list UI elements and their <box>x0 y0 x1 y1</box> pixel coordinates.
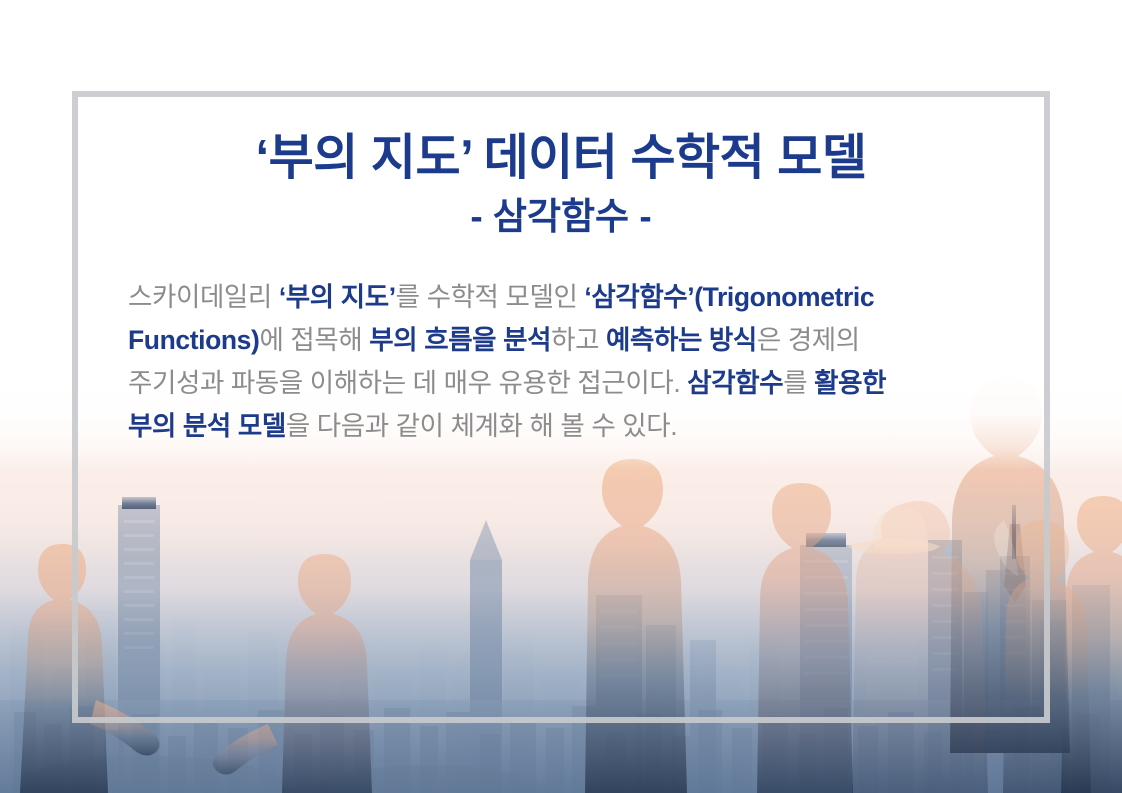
title-block: ‘부의 지도’ 데이터 수학적 모델 - 삼각함수 - <box>0 131 1122 239</box>
page-title: ‘부의 지도’ 데이터 수학적 모델 <box>0 131 1122 187</box>
body-paragraph: 스카이데일리 ‘부의 지도’를 수학적 모델인 ‘삼각함수’(Trigonome… <box>128 276 1002 448</box>
body-l2-s3: 부의 흐름을 분석 <box>369 325 551 355</box>
body-l2-s4: 하고 <box>551 325 606 355</box>
body-l2-s2: 에 접목해 <box>259 325 369 355</box>
body-l1-s3: 를 수학적 모델인 <box>396 282 585 312</box>
body-l1-s4: ‘삼각함수’(Trigonometric <box>584 282 874 312</box>
body-l4-s1: 부의 분석 모델 <box>128 411 286 441</box>
body-l2-s1: Functions) <box>128 325 259 355</box>
page-subtitle: - 삼각함수 - <box>0 195 1122 239</box>
body-line-3: 주기성과 파동을 이해하는 데 매우 유용한 접근이다. 삼각함수를 활용한 <box>128 362 1002 405</box>
body-line-2: Functions)에 접목해 부의 흐름을 분석하고 예측하는 방식은 경제의 <box>128 319 1002 362</box>
body-l2-s6: 은 경제의 <box>757 325 860 355</box>
body-l2-s5: 예측하는 방식 <box>606 325 757 355</box>
poster-canvas: ‘부의 지도’ 데이터 수학적 모델 - 삼각함수 - 스카이데일리 ‘부의 지… <box>0 0 1122 793</box>
body-l1-s1: 스카이데일리 <box>128 282 279 312</box>
body-line-1: 스카이데일리 ‘부의 지도’를 수학적 모델인 ‘삼각함수’(Trigonome… <box>128 276 1002 319</box>
body-l3-s4: 활용한 <box>814 368 886 398</box>
body-l3-s3: 를 <box>783 368 814 398</box>
body-line-4: 부의 분석 모델을 다음과 같이 체계화 해 볼 수 있다. <box>128 405 1002 448</box>
body-l3-s1: 주기성과 파동을 이해하는 데 매우 유용한 접근이다. <box>128 368 687 398</box>
body-l1-s2: ‘부의 지도’ <box>279 282 396 312</box>
body-l3-s2: 삼각함수 <box>687 368 783 398</box>
body-l4-s2: 을 다음과 같이 체계화 해 볼 수 있다. <box>286 411 677 441</box>
